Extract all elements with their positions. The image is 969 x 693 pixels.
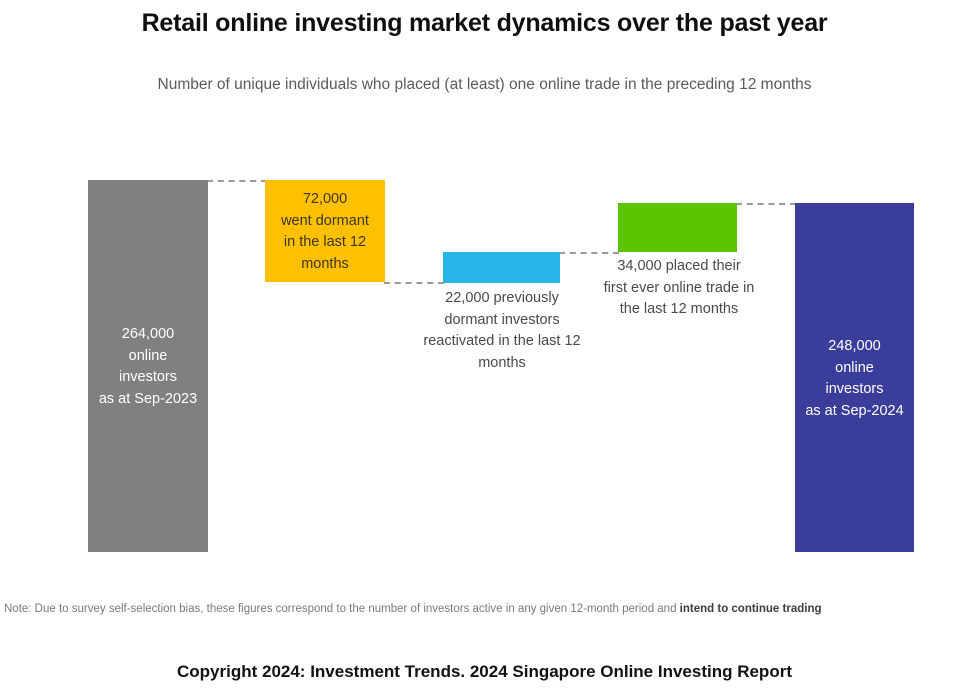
bar-first-ever-trade-label-line2: first ever online trade in	[595, 278, 763, 300]
bar-start-2023-label-line1: 264,000	[88, 324, 208, 346]
bar-start-2023-label: 264,000 online investors as at Sep-2023	[88, 324, 208, 410]
bar-went-dormant-label-line4: months	[259, 254, 391, 276]
bar-first-ever-trade[interactable]	[618, 203, 737, 252]
bar-end-2024-label-line4: as at Sep-2024	[789, 401, 920, 423]
bar-went-dormant-label-line3: in the last 12	[259, 232, 391, 254]
bar-end-2024-label: 248,000 online investors as at Sep-2024	[789, 336, 920, 422]
copyright-line: Copyright 2024: Investment Trends. 2024 …	[0, 660, 969, 684]
bar-end-2024-label-line3: investors	[789, 379, 920, 401]
bar-first-ever-trade-label-line3: the last 12 months	[595, 299, 763, 321]
bar-first-ever-trade-label-line1: 34,000 placed their	[595, 256, 763, 278]
bar-reactivated[interactable]	[443, 252, 560, 283]
footnote-emphasis: intend to continue trading	[680, 603, 822, 615]
bar-reactivated-label-line3: reactivated in the last 12	[412, 331, 592, 353]
bar-went-dormant-label-line2: went dormant	[259, 211, 391, 233]
bar-reactivated-label: 22,000 previously dormant investors reac…	[412, 288, 592, 374]
bar-went-dormant-label-line1: 72,000	[259, 189, 391, 211]
waterfall-chart: 264,000 online investors as at Sep-2023 …	[0, 0, 969, 693]
bar-reactivated-label-line1: 22,000 previously	[412, 288, 592, 310]
bar-end-2024-label-line2: online	[789, 358, 920, 380]
bar-start-2023-label-line3: investors	[88, 367, 208, 389]
bar-reactivated-label-line4: months	[412, 353, 592, 375]
bar-end-2024-label-line1: 248,000	[789, 336, 920, 358]
connector-dormant-to-reactivated	[384, 282, 444, 284]
footnote-text: Note: Due to survey self-selection bias,…	[4, 603, 680, 615]
connector-first-ever-to-end	[736, 203, 796, 205]
footnote: Note: Due to survey self-selection bias,…	[4, 601, 965, 617]
connector-reactivated-to-first-ever	[559, 252, 619, 254]
bar-start-2023-label-line4: as at Sep-2023	[88, 389, 208, 411]
bar-went-dormant-label: 72,000 went dormant in the last 12 month…	[259, 189, 391, 275]
bar-start-2023-label-line2: online	[88, 346, 208, 368]
bar-first-ever-trade-label: 34,000 placed their first ever online tr…	[595, 256, 763, 321]
bar-reactivated-label-line2: dormant investors	[412, 310, 592, 332]
connector-start-to-dormant	[207, 180, 267, 182]
